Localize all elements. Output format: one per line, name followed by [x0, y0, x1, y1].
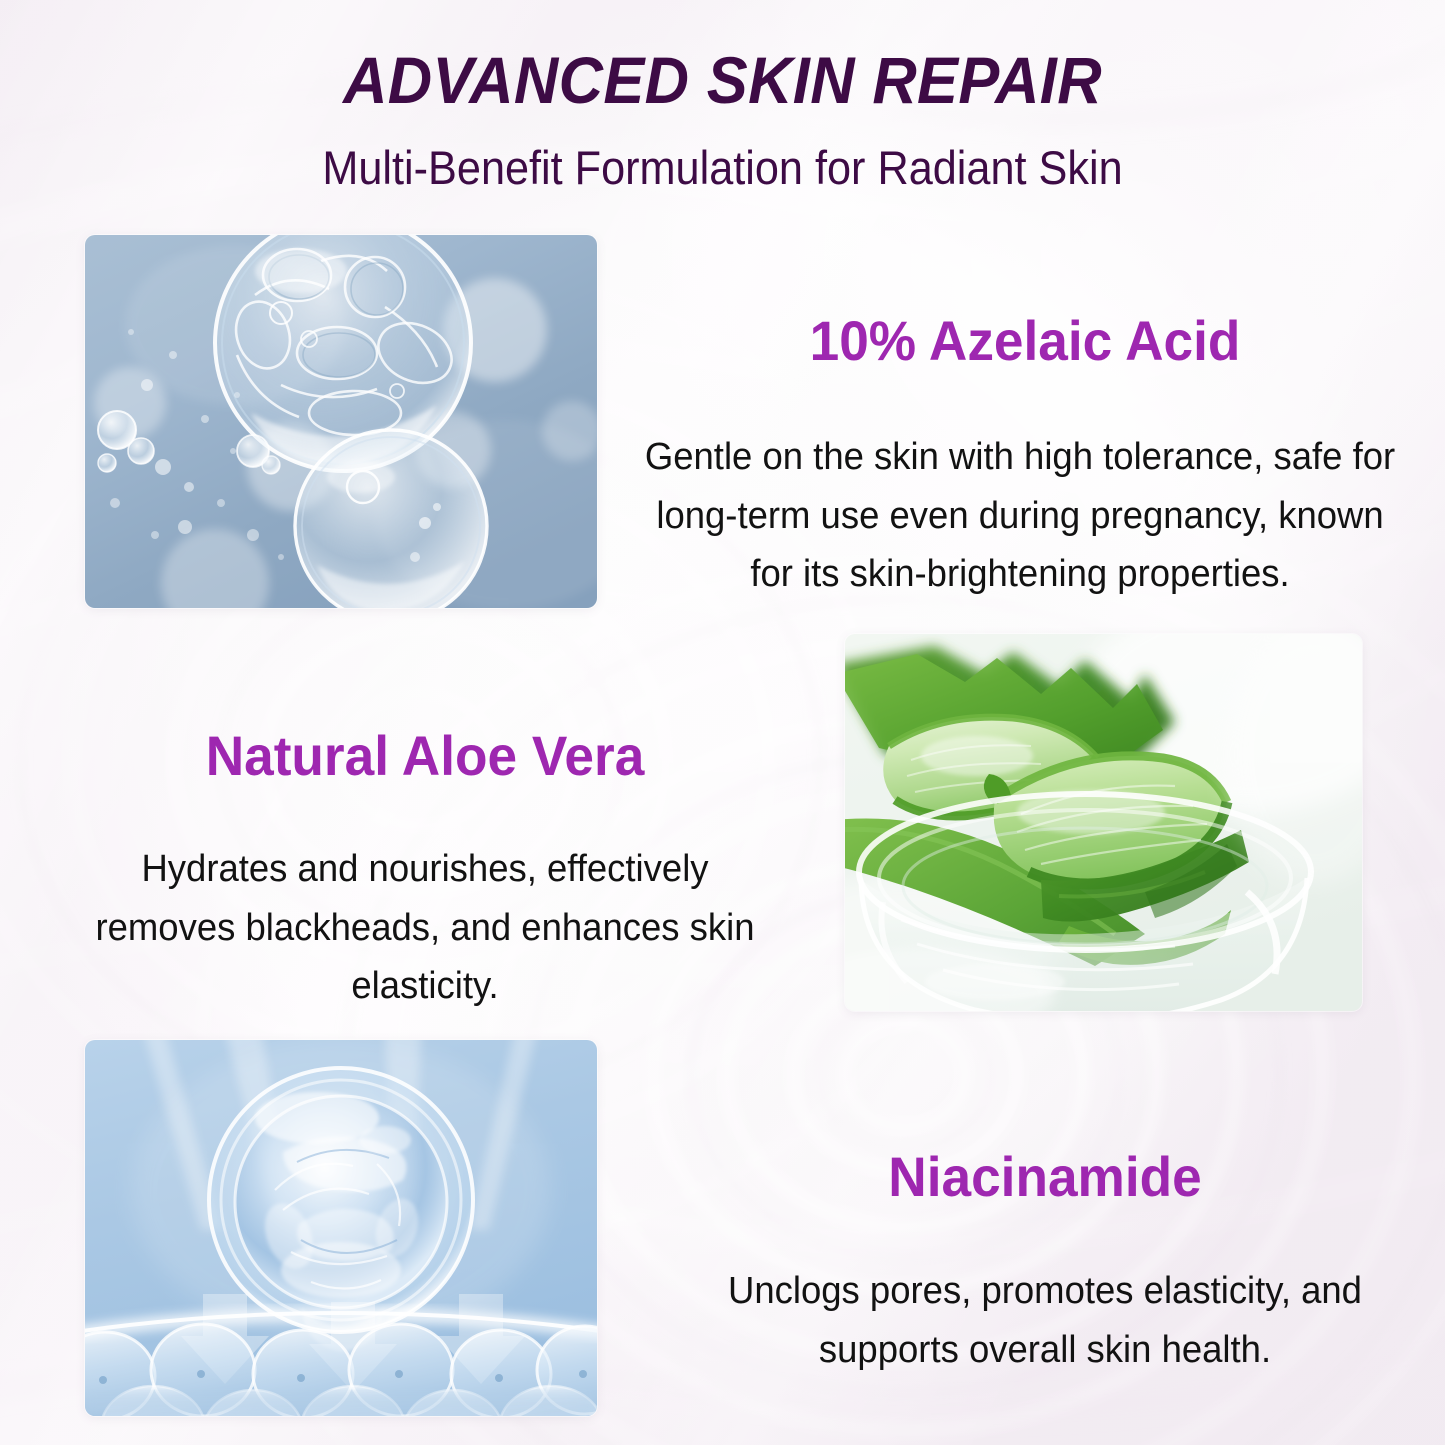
- page-title: ADVANCED SKIN REPAIR: [51, 46, 1395, 115]
- serum-droplet-photo: [85, 1040, 597, 1416]
- page-subtitle: Multi-Benefit Formulation for Radiant Sk…: [58, 143, 1387, 193]
- section-body-niacinamide: Unclogs pores, promotes elasticity, and …: [695, 1262, 1396, 1379]
- section-body-aloe-vera: Hydrates and nourishes, effectively remo…: [94, 840, 756, 1016]
- water-bubbles-photo: [85, 235, 597, 608]
- section-heading-niacinamide: Niacinamide: [717, 1148, 1373, 1207]
- section-heading-azelaic-acid: 10% Azelaic Acid: [659, 312, 1391, 371]
- aloe-vera-photo: [845, 634, 1362, 1011]
- section-body-azelaic-acid: Gentle on the skin with high tolerance, …: [636, 428, 1404, 604]
- section-heading-aloe-vera: Natural Aloe Vera: [107, 727, 744, 786]
